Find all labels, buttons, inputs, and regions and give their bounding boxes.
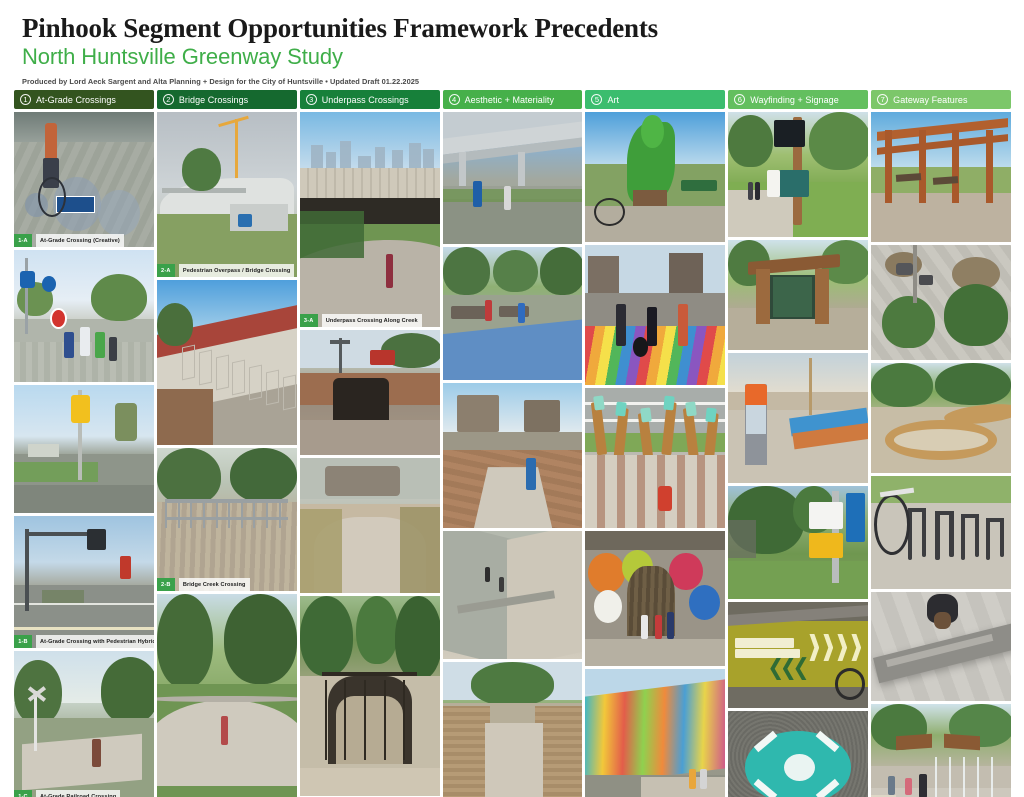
precedent-photo[interactable] [728,602,868,708]
precedent-column-3: 3Underpass Crossings3-AUnderpass Crossin… [300,90,440,790]
precedent-photo[interactable] [585,531,725,666]
column-title: At-Grade Crossings [36,95,116,105]
column-header-2[interactable]: 2Bridge Crossings [157,90,297,109]
precedent-photo[interactable] [728,112,868,237]
precedent-photo[interactable] [300,458,440,593]
photo-caption-id: 1-C [14,790,32,797]
precedent-photo[interactable] [585,388,725,528]
column-title: Art [607,95,619,105]
precedent-column-2: 2Bridge Crossings2-APedestrian Overpass … [157,90,297,790]
column-header-6[interactable]: 6Wayfinding + Signage [728,90,868,109]
column-header-5[interactable]: 5Art [585,90,725,109]
photo-caption: 1-BAt-Grade Crossing with Pedestrian Hyb… [14,635,154,648]
column-header-3[interactable]: 3Underpass Crossings [300,90,440,109]
photo-caption-text: Pedestrian Overpass / Bridge Crossing [179,264,295,277]
photo-caption: 3-AUnderpass Crossing Along Creek [300,314,440,327]
column-number-badge: 5 [591,94,602,105]
precedent-photo[interactable]: 1-BAt-Grade Crossing with Pedestrian Hyb… [14,516,154,648]
precedent-photo[interactable] [728,353,868,483]
precedent-photo[interactable] [14,385,154,513]
precedent-photo[interactable] [871,704,1011,797]
photo-caption: 1-CAt-Grade Railroad Crossing [14,790,154,797]
photo-caption-id: 3-A [300,314,318,327]
precedent-photo[interactable] [157,280,297,445]
photo-caption-id: 2-B [157,578,175,591]
photo-caption: 2-APedestrian Overpass / Bridge Crossing [157,264,297,277]
column-header-4[interactable]: 4Aesthetic + Materiality [443,90,583,109]
precedent-photo[interactable] [585,112,725,242]
column-header-1[interactable]: 1At-Grade Crossings [14,90,154,109]
photo-caption-id: 2-A [157,264,175,277]
precedent-column-grid: 1At-Grade Crossings1-AAt-Grade Crossing … [14,90,1011,790]
precedent-photo[interactable] [871,476,1011,589]
page-title: Pinhook Segment Opportunities Framework … [22,14,922,42]
precedent-photo[interactable] [728,486,868,599]
precedent-photo[interactable] [728,240,868,350]
precedent-column-6: 6Wayfinding + Signage [728,90,868,790]
precedent-photo[interactable] [443,112,583,244]
photo-caption: 1-AAt-Grade Crossing (Creative) [14,234,154,247]
precedent-photo[interactable] [300,330,440,455]
column-number-badge: 3 [306,94,317,105]
photo-caption-text: At-Grade Railroad Crossing [36,790,120,797]
precedent-photo[interactable] [300,596,440,796]
column-title: Underpass Crossings [322,95,409,105]
precedent-photo[interactable]: 3-AUnderpass Crossing Along Creek [300,112,440,327]
precedent-photo[interactable] [871,592,1011,701]
precedent-photo[interactable] [871,245,1011,360]
photo-caption-text: Underpass Crossing Along Creek [322,314,422,327]
precedent-photo[interactable] [585,245,725,385]
title-block: Pinhook Segment Opportunities Framework … [22,14,922,86]
precedent-photo[interactable] [871,363,1011,473]
photo-caption-text: At-Grade Crossing with Pedestrian Hybrid… [36,635,154,648]
column-number-badge: 7 [877,94,888,105]
precedent-photo[interactable] [871,112,1011,242]
page-subtitle: North Huntsville Greenway Study [22,44,922,70]
column-title: Aesthetic + Materiality [465,95,554,105]
photo-caption: 2-BBridge Creek Crossing [157,578,297,591]
precedent-photo[interactable]: 2-BBridge Creek Crossing [157,448,297,591]
photo-caption-text: At-Grade Crossing (Creative) [36,234,124,247]
column-number-badge: 1 [20,94,31,105]
column-title: Gateway Features [893,95,967,105]
column-number-badge: 4 [449,94,460,105]
column-title: Bridge Crossings [179,95,248,105]
precedent-column-5: 5Art [585,90,725,790]
precedent-board: Pinhook Segment Opportunities Framework … [0,0,1024,797]
column-number-badge: 2 [163,94,174,105]
photo-caption-text: Bridge Creek Crossing [179,578,250,591]
precedent-column-7: 7Gateway Features [871,90,1011,790]
precedent-photo[interactable] [443,531,583,659]
photo-caption-id: 1-B [14,635,32,648]
precedent-photo[interactable]: 2-APedestrian Overpass / Bridge Crossing [157,112,297,277]
precedent-photo[interactable] [443,247,583,380]
column-header-7[interactable]: 7Gateway Features [871,90,1011,109]
precedent-photo[interactable]: 1-AAt-Grade Crossing (Creative) [14,112,154,247]
column-title: Wayfinding + Signage [750,95,838,105]
precedent-photo[interactable]: 1-CAt-Grade Railroad Crossing [14,651,154,797]
column-number-badge: 6 [734,94,745,105]
precedent-photo[interactable] [728,711,868,797]
precedent-photo[interactable] [443,383,583,528]
precedent-photo[interactable] [14,250,154,382]
page-credit: Produced by Lord Aeck Sargent and Alta P… [22,77,922,86]
precedent-photo[interactable] [157,594,297,797]
precedent-column-1: 1At-Grade Crossings1-AAt-Grade Crossing … [14,90,154,790]
photo-caption-id: 1-A [14,234,32,247]
precedent-column-4: 4Aesthetic + Materiality [443,90,583,790]
precedent-photo[interactable] [585,669,725,797]
precedent-photo[interactable] [443,662,583,797]
